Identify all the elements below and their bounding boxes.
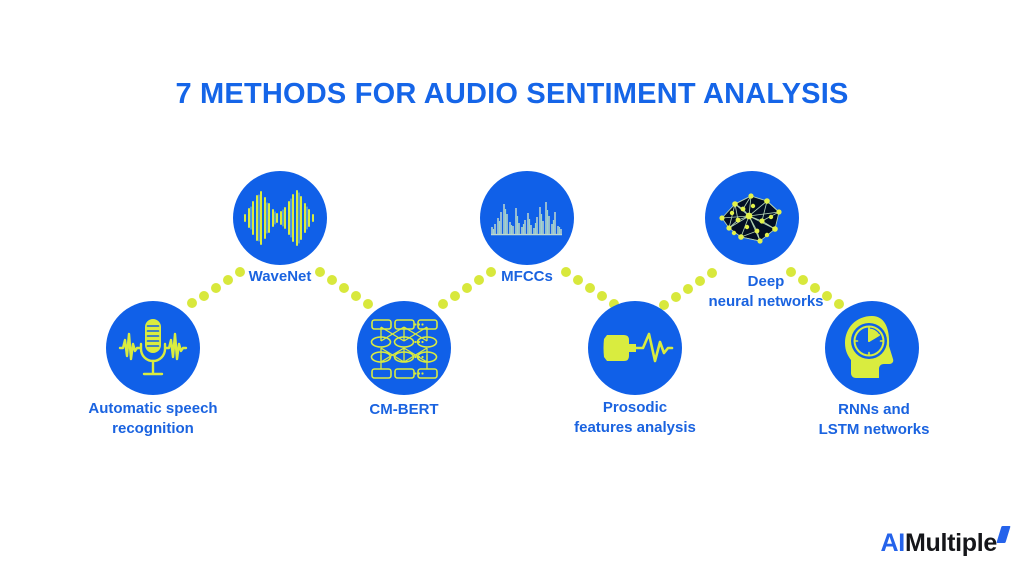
logo-text-multiple: Multiple [905,529,997,557]
method-label-prosodic-features-analysis: Prosodic features analysis [538,398,732,439]
method-label-mfccs: MFCCs [447,267,607,287]
neural-network-graph-icon [705,171,799,265]
head-clock-icon [825,301,919,395]
spectrum-histogram-icon [480,171,574,265]
transformer-network-grid-icon [357,301,451,395]
dotted-connector-path [0,0,1024,576]
aimultiple-logo[interactable]: AIMultiple [881,529,1008,558]
infographic-canvas: 7 METHODS FOR AUDIO SENTIMENT ANALYSIS [0,0,1024,576]
method-label-cm-bert: CM-BERT [314,400,494,420]
audio-wave-bars-icon [233,171,327,265]
logo-text-ai: AI [881,529,905,557]
method-label-wavenet: WaveNet [200,267,360,287]
method-label-rnns-and-lstm-networks: RNNs and LSTM networks [785,400,963,441]
method-label-automatic-speech-recognition: Automatic speech recognition [46,399,260,440]
method-label-deep-neural-networks: Deep neural networks [672,272,860,313]
microphone-waveform-icon [106,301,200,395]
megaphone-waveform-icon [588,301,682,395]
